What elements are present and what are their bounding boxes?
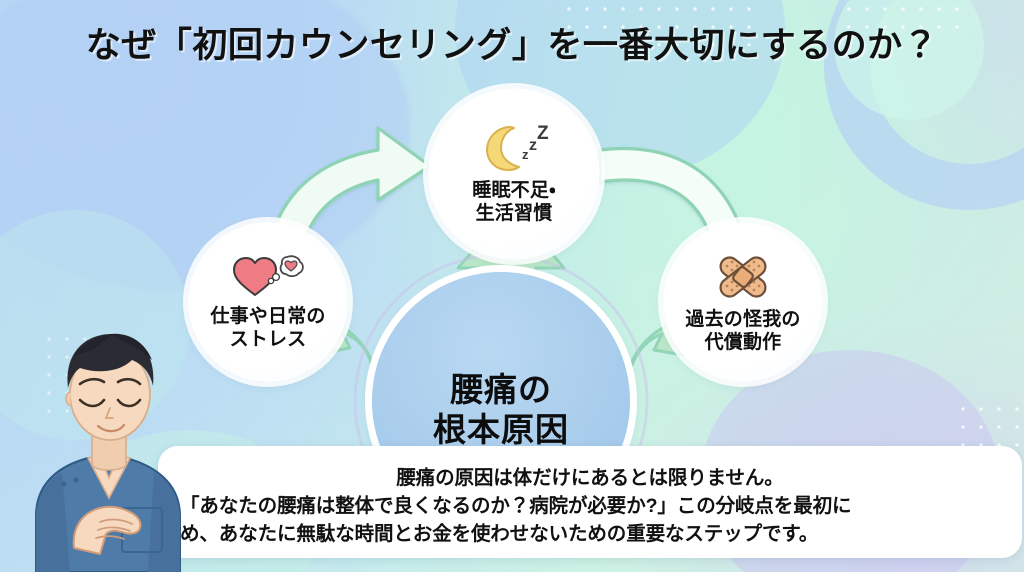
cause-node-injury-line1: 過去の怪我の [685,309,800,331]
moon-sleep-icon: z z Z [478,123,550,178]
caption-line-1: 腰痛の原因は体だけにあるとは限りません。 [396,465,783,493]
svg-text:z: z [522,147,529,162]
slide-canvas: なぜ「初回カウンセリング」を一番大切にするのか？ [0,0,1024,572]
page-title: なぜ「初回カウンセリング」を一番大切にするのか？ [0,16,1024,68]
cause-node-injury-line2: 代償動作 [685,332,800,354]
cause-node-sleep-line1: 睡眠不足・ [472,180,555,202]
cause-node-sleep-line2: 生活習慣 [472,203,555,225]
caption-card: 腰痛の原因は体だけにあるとは限りません。 「あなたの腰痛は整体で良くなるのか？病… [158,446,1022,558]
center-node-line2: 根本原因 [433,410,569,450]
caption-line-2: 「あなたの腰痛は整体で良くなるのか？病院が必要か?」この分岐点を最初に [180,493,851,521]
bandage-cross-icon [713,250,773,307]
cause-node-injury[interactable]: 過去の怪我の 代償動作 [663,222,823,382]
svg-text:Z: Z [537,123,549,144]
therapist-illustration [14,316,229,572]
center-node-line1: 腰痛の [433,370,569,410]
heart-thought-icon [229,253,307,304]
cause-node-sleep[interactable]: z z Z 睡眠不足・ 生活習慣 [428,88,600,260]
caption-line-3: め、あなたに無駄な時間とお金を使わせないための重要なステップです。 [180,521,818,549]
svg-text:z: z [529,137,537,154]
